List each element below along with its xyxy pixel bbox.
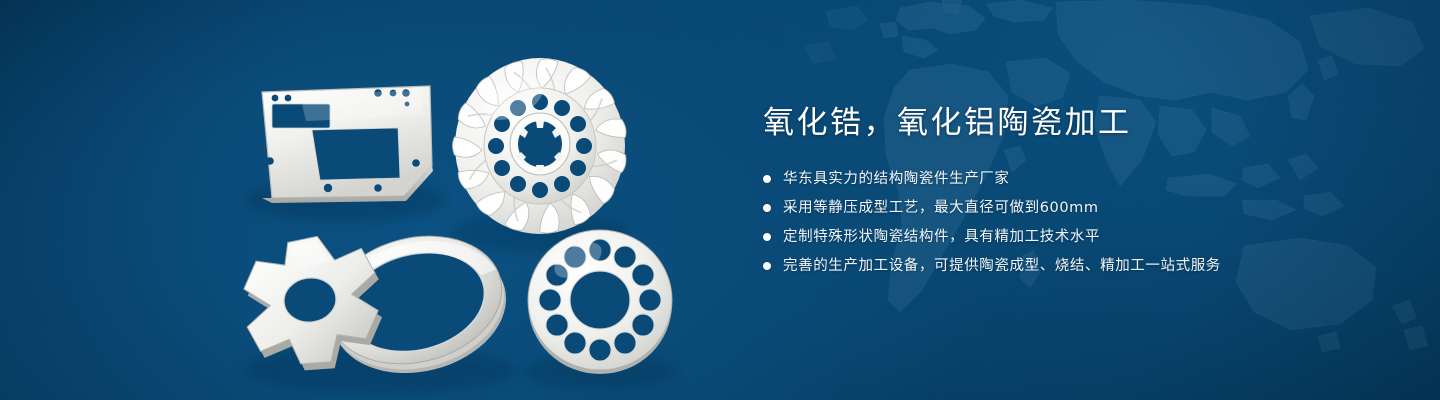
list-item-label: 定制特殊形状陶瓷结构件，具有精加工技术水平 <box>783 230 1100 245</box>
ceramic-perforated-disc <box>528 230 672 374</box>
list-item-label: 华东具实力的结构陶瓷件生产厂家 <box>783 172 1010 187</box>
list-item: 采用等静压成型工艺，最大直径可做到600mm <box>763 196 1403 221</box>
page-title: 氧化锆，氧化铝陶瓷加工 <box>763 104 1403 143</box>
bullet-dot-icon <box>763 204 771 212</box>
banner-copy: 氧化锆，氧化铝陶瓷加工 华东具实力的结构陶瓷件生产厂家 采用等静压成型工艺，最大… <box>763 104 1403 283</box>
list-item-label: 采用等静压成型工艺，最大直径可做到600mm <box>783 201 1099 216</box>
list-item: 定制特殊形状陶瓷结构件，具有精加工技术水平 <box>763 225 1403 250</box>
product-showcase <box>0 0 760 400</box>
list-item: 完善的生产加工设备，可提供陶瓷成型、烧结、精加工一站式服务 <box>763 254 1403 279</box>
feature-list: 华东具实力的结构陶瓷件生产厂家 采用等静压成型工艺，最大直径可做到600mm 定… <box>763 167 1403 279</box>
list-item: 华东具实力的结构陶瓷件生产厂家 <box>763 167 1403 192</box>
promo-banner: 氧化锆，氧化铝陶瓷加工 华东具实力的结构陶瓷件生产厂家 采用等静压成型工艺，最大… <box>0 0 1440 400</box>
ceramic-impeller-disc <box>451 58 628 235</box>
bullet-dot-icon <box>763 262 771 270</box>
bullet-dot-icon <box>763 233 771 241</box>
list-item-label: 完善的生产加工设备，可提供陶瓷成型、烧结、精加工一站式服务 <box>783 259 1221 274</box>
bullet-dot-icon <box>763 175 771 183</box>
ceramic-mounting-plate <box>262 86 433 203</box>
